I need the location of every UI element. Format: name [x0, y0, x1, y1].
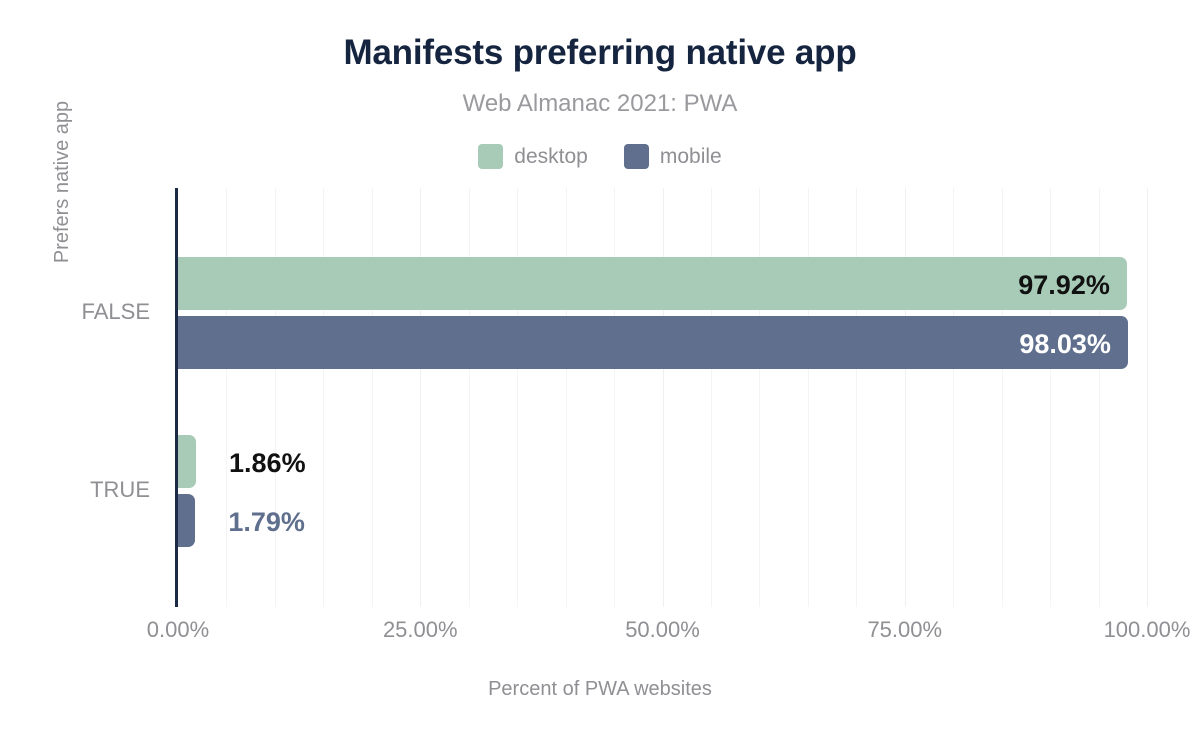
x-tick-10000: 100.00% — [1104, 617, 1191, 643]
chart-container: Manifests preferring native app Web Alma… — [0, 0, 1200, 742]
y-tick-true: TRUE — [0, 477, 150, 503]
x-tick-5000: 50.00% — [625, 617, 700, 643]
x-tick-7500: 75.00% — [867, 617, 942, 643]
x-tick-2500: 25.00% — [383, 617, 458, 643]
y-tick-false: FALSE — [0, 299, 150, 325]
x-tick-000: 0.00% — [147, 617, 209, 643]
x-axis-title: Percent of PWA websites — [0, 677, 1200, 701]
